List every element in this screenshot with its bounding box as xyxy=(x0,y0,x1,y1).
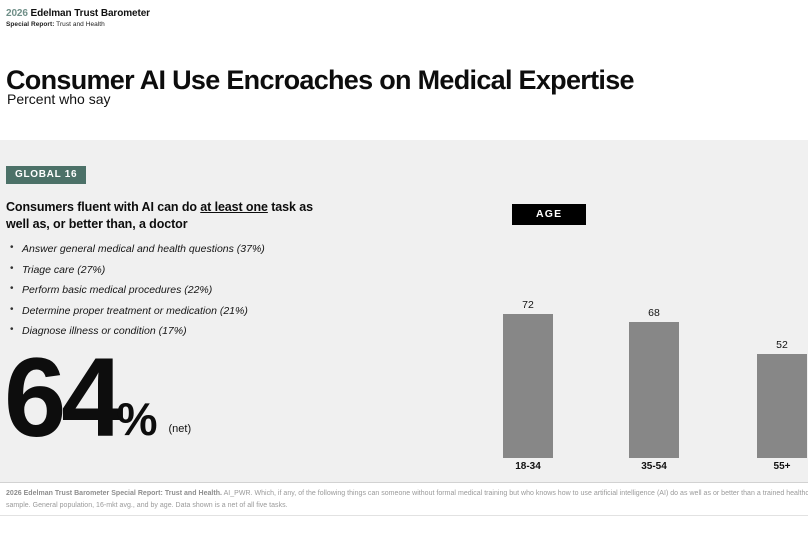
list-item: Answer general medical and health questi… xyxy=(10,243,350,255)
brand-subtitle: Special Report: Trust and Health xyxy=(6,20,150,29)
bar-rect xyxy=(629,322,679,458)
brand-lockup: 2026 Edelman Trust Barometer Special Rep… xyxy=(6,8,150,29)
key-statement-part1: Consumers fluent with AI can do xyxy=(6,200,200,214)
bar-category-label: 35-54 xyxy=(629,461,679,473)
age-bar-chart: 72 18-34 68 35-54 52 55+ xyxy=(495,290,808,480)
panel-divider xyxy=(0,482,808,483)
bar-rect xyxy=(503,314,553,458)
bar-value-label: 68 xyxy=(629,307,679,320)
list-item: Determine proper treatment or medication… xyxy=(10,305,350,317)
status-badge-age: AGE xyxy=(512,204,586,225)
list-item: Triage care (27%) xyxy=(10,264,350,276)
footnote: 2026 Edelman Trust Barometer Special Rep… xyxy=(6,488,808,511)
page-subtitle: Percent who say xyxy=(7,90,111,108)
brand-name: Edelman Trust Barometer xyxy=(31,8,150,19)
bar-value-label: 72 xyxy=(503,299,553,312)
brand-year: 2026 xyxy=(6,8,28,19)
statistic-note: (net) xyxy=(168,423,191,435)
footer-strip xyxy=(0,516,808,539)
footnote-source: 2026 Edelman Trust Barometer Special Rep… xyxy=(6,490,222,497)
bar-value-label: 52 xyxy=(757,339,807,352)
slide-canvas: 2026 Edelman Trust Barometer Special Rep… xyxy=(0,0,808,539)
bar-category-label: 55+ xyxy=(757,461,807,473)
key-statement: Consumers fluent with AI can do at least… xyxy=(6,199,336,232)
list-item: Perform basic medical procedures (22%) xyxy=(10,284,350,296)
task-list: Answer general medical and health questi… xyxy=(10,243,350,346)
statistic-percent-sign: % xyxy=(117,396,157,442)
brand-title: 2026 Edelman Trust Barometer xyxy=(6,8,150,19)
status-badge-global: GLOBAL 16 xyxy=(6,166,86,184)
headline-statistic: 64 % (net) xyxy=(4,352,191,444)
brand-report-prefix: Special Report: xyxy=(6,21,54,28)
brand-report-suffix: Trust and Health xyxy=(54,21,104,28)
bar-group-0: 72 18-34 xyxy=(503,314,553,458)
statistic-value: 64 xyxy=(4,352,119,444)
bar-rect xyxy=(757,354,807,458)
key-statement-underlined: at least one xyxy=(200,200,268,214)
bar-group-1: 68 35-54 xyxy=(629,322,679,458)
bar-group-2: 52 55+ xyxy=(757,354,807,458)
bar-category-label: 18-34 xyxy=(503,461,553,473)
